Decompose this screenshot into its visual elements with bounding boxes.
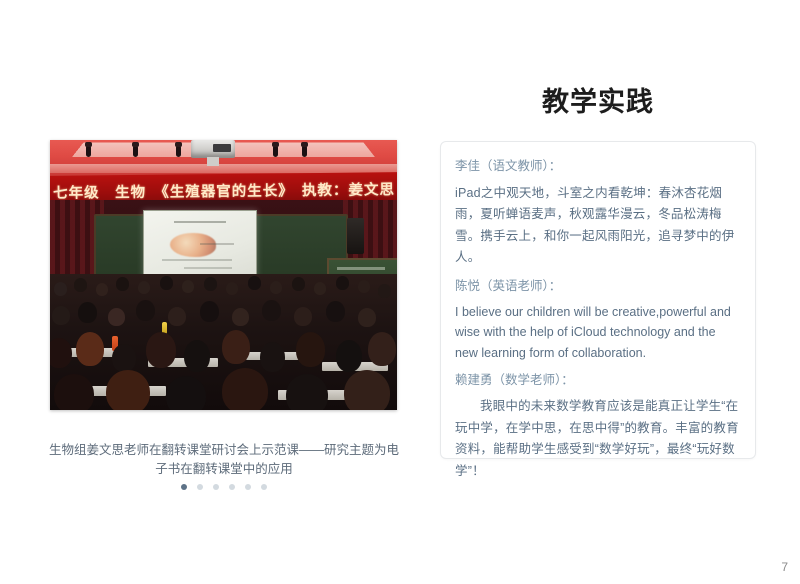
carousel-dot-1[interactable] xyxy=(181,484,187,490)
page-number: 7 xyxy=(781,560,788,574)
carousel-dot-3[interactable] xyxy=(213,484,219,490)
wall-speaker-icon xyxy=(347,218,364,254)
quote-list: 李佳（语文教师）：iPad之中观天地，斗室之内看乾坤：春沐杏花烟雨，夏听蝉语麦声… xyxy=(455,158,741,482)
page-title: 教学实践 xyxy=(440,88,756,118)
carousel-dot-5[interactable] xyxy=(245,484,251,490)
classroom-photo: 七年级 生物 《生殖器官的生长》 执教：姜文思 xyxy=(50,140,397,410)
projector-icon xyxy=(191,140,235,158)
ceiling-lamp-icon xyxy=(302,146,307,157)
quote-text-2: I believe our children will be creative,… xyxy=(455,302,741,363)
photo-card[interactable]: 七年级 生物 《生殖器官的生长》 执教：姜文思 xyxy=(50,140,397,410)
slide-image xyxy=(170,233,216,257)
ceiling-lamp-icon xyxy=(133,146,138,157)
ceiling-lamp-icon xyxy=(86,146,91,157)
quote-speaker-3: 赖建勇（数学老师）： xyxy=(455,372,741,390)
carousel-dots[interactable] xyxy=(44,484,404,490)
led-banner-text: 七年级 生物 《生殖器官的生长》 执教：姜文思 xyxy=(53,178,395,203)
quotes-panel: 李佳（语文教师）：iPad之中观天地，斗室之内看乾坤：春沐杏花烟雨，夏听蝉语麦声… xyxy=(440,141,756,459)
ceiling-lamp-icon xyxy=(273,146,278,157)
carousel-dot-6[interactable] xyxy=(261,484,267,490)
ceiling-lamp-icon xyxy=(176,146,181,157)
quote-speaker-2: 陈悦（英语老师）： xyxy=(455,278,741,296)
photo-caption: 生物组姜文思老师在翻转课堂研讨会上示范课——研究主题为电子书在翻转课堂中的应用 xyxy=(44,441,404,480)
ceiling-strip xyxy=(50,164,397,173)
carousel-dot-4[interactable] xyxy=(229,484,235,490)
audience-area xyxy=(50,274,397,410)
quote-speaker-1: 李佳（语文教师）： xyxy=(455,158,741,176)
quote-text-3: 我眼中的未来数学教育应该是能真正让学生“在玩中学，在学中思，在思中得”的教育。丰… xyxy=(455,396,741,482)
quote-text-1: iPad之中观天地，斗室之内看乾坤：春沐杏花烟雨，夏听蝉语麦声，秋观露华漫云，冬… xyxy=(455,183,741,269)
carousel-dot-2[interactable] xyxy=(197,484,203,490)
